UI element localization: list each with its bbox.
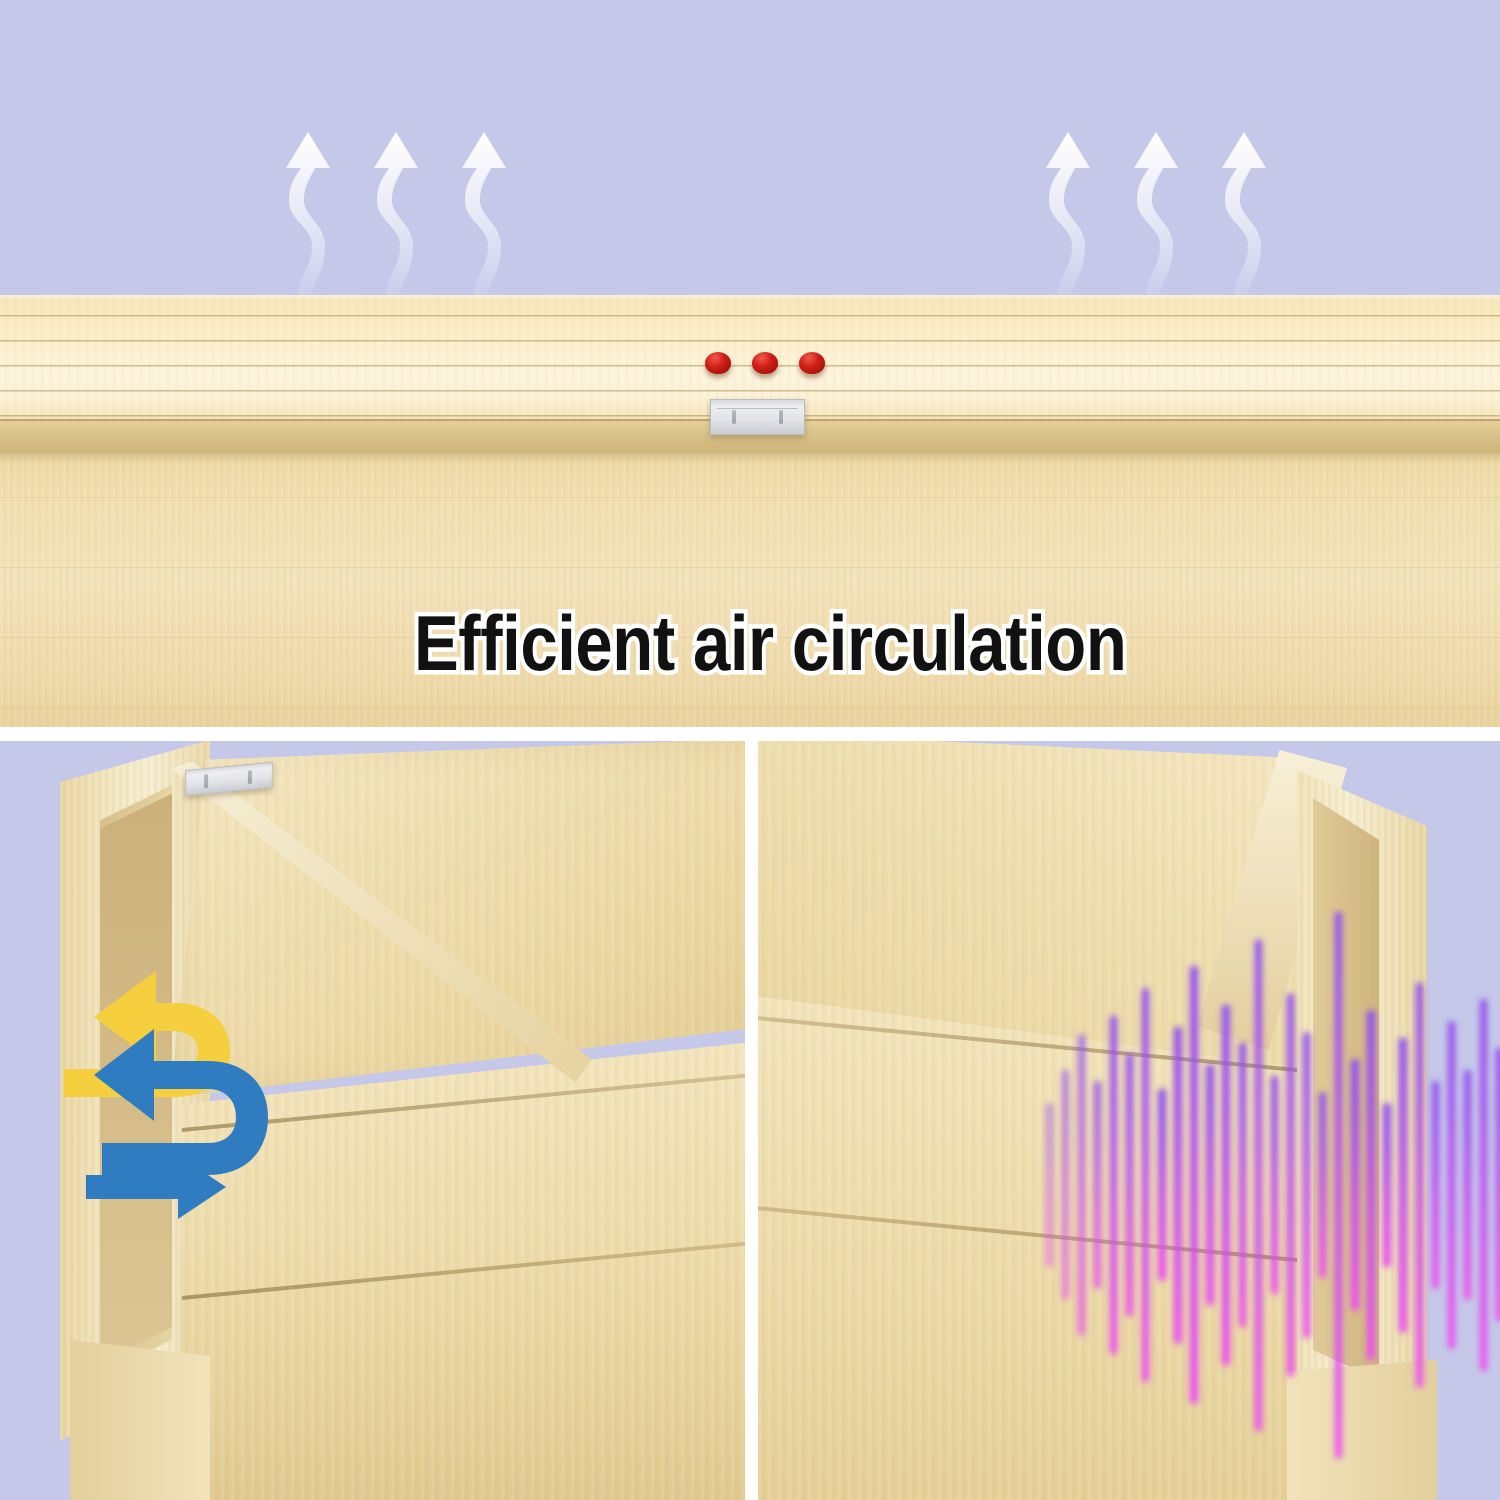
sound-wave-bar [1255, 939, 1262, 1431]
heat-retention-panel: Exceptional heat retention [0, 740, 745, 1500]
sound-wave-bar [1190, 966, 1197, 1404]
sound-wave-bar [1206, 1065, 1213, 1306]
sound-wave-bar [1351, 1059, 1358, 1311]
sound-wave-bar [1335, 911, 1342, 1458]
sound-wave-bar [1319, 1092, 1326, 1278]
steam-arrow-group-right [1028, 118, 1283, 303]
hinge-screw [779, 410, 783, 424]
sound-wave-bar [1496, 1048, 1500, 1322]
hinge-seam [717, 408, 799, 409]
page-title: Efficient air circulation [414, 598, 1126, 689]
steam-arrow-group-left [268, 118, 523, 303]
sound-wave-bar [1094, 1081, 1101, 1289]
wavy-up-arrow-icon [1116, 118, 1186, 303]
sound-wave-bar [1222, 1004, 1229, 1365]
wavy-up-arrow-icon [1028, 118, 1098, 303]
sound-wave-bar [1158, 1089, 1165, 1281]
air-circulation-panel: Efficient air circulation [0, 0, 1500, 727]
red-knob-icon[interactable] [705, 352, 731, 374]
wavy-up-arrow-icon [444, 118, 514, 303]
sound-wave-bar [1046, 1103, 1053, 1267]
sound-wave-bar [1480, 999, 1487, 1371]
sound-wave-bar [1110, 1015, 1117, 1354]
sound-wave-bar [1303, 1032, 1310, 1338]
hinge-plate-icon [710, 399, 805, 435]
sound-wave-bar [1383, 1103, 1390, 1267]
sound-wave-bar [1287, 993, 1294, 1376]
cabinet-base [70, 1340, 210, 1500]
sound-wave-bar [1078, 1035, 1085, 1336]
sound-wave-bar [1174, 1026, 1181, 1343]
sound-wave-bar [1142, 988, 1149, 1382]
red-knob-icon[interactable] [799, 352, 825, 374]
sound-wave-icon [1042, 900, 1500, 1470]
sound-wave-bar [1062, 1070, 1069, 1300]
sound-wave-bar [1271, 1076, 1278, 1295]
circulation-loop-arrow-icon [58, 955, 308, 1225]
hinge-screw [732, 410, 736, 424]
sound-wave-bar [1464, 1070, 1471, 1300]
sound-wave-bar [1399, 1037, 1406, 1332]
panel-divider-vertical [745, 727, 758, 1500]
sound-wave-bar [1416, 983, 1423, 1388]
red-knob-icon[interactable] [752, 352, 778, 374]
wavy-up-arrow-icon [1204, 118, 1274, 303]
wavy-up-arrow-icon [268, 118, 338, 303]
acoustic-insulation-panel: Excellent acoustic insulation [757, 740, 1500, 1500]
sound-wave-bar [1448, 1021, 1455, 1349]
wavy-up-arrow-icon [356, 118, 426, 303]
hinge-screw [204, 774, 208, 788]
sound-wave-bar [1432, 1081, 1439, 1289]
sound-wave-bar [1126, 1054, 1133, 1317]
hinge-screw [248, 770, 252, 784]
infographic-root: Efficient air circulation [0, 0, 1500, 1500]
sound-wave-bar [1367, 1010, 1374, 1360]
sound-wave-bar [1239, 1043, 1246, 1328]
